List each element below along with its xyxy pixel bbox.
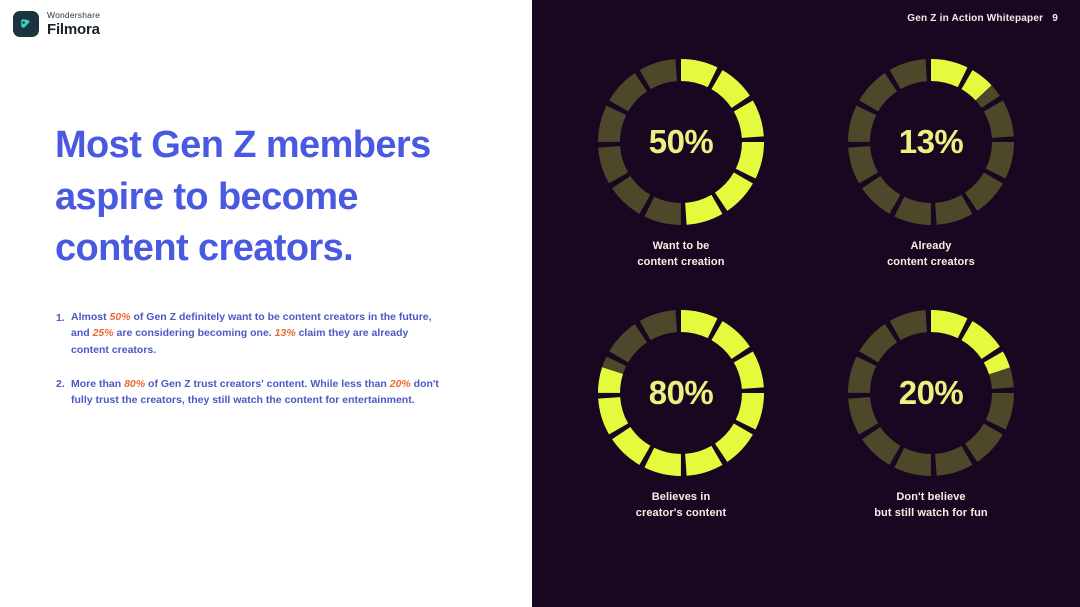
brand-logo: Wondershare Filmora	[13, 11, 100, 37]
brand-name-top: Wondershare	[47, 11, 100, 20]
donut-caption-line2: but still watch for fun	[874, 506, 988, 522]
brand-name-bottom: Filmora	[47, 22, 100, 37]
list-item: 1.Almost 50% of Gen Z definitely want to…	[56, 309, 446, 358]
body-text: More than	[71, 378, 124, 390]
donut-caption-line2: content creation	[637, 255, 724, 271]
donut-value-label: 80%	[597, 309, 765, 477]
donut-caption-line1: Believes in	[636, 490, 727, 506]
donut-caption-line2: content creators	[887, 255, 975, 271]
donut-caption: Believes increator's content	[636, 490, 727, 522]
stat-highlight: 20%	[390, 378, 411, 390]
body-text: are considering becoming one.	[114, 327, 275, 339]
chart-panel: Gen Z in Action Whitepaper 9 50%Want to …	[532, 0, 1080, 607]
donut-ring: 13%	[847, 58, 1015, 226]
slide: Wondershare Filmora Most Gen Z members a…	[0, 0, 1080, 607]
list-item-number: 1.	[56, 309, 71, 358]
stat-highlight: 50%	[110, 311, 131, 323]
donut-caption-line1: Don't believe	[874, 490, 988, 506]
document-title: Gen Z in Action Whitepaper	[907, 13, 1043, 24]
list-item: 2.More than 80% of Gen Z trust creators'…	[56, 376, 446, 409]
donut-caption: Don't believebut still watch for fun	[874, 490, 988, 522]
page-title: Most Gen Z members aspire to become cont…	[55, 120, 495, 275]
donut-caption-line1: Want to be	[637, 239, 724, 255]
list-item-text: More than 80% of Gen Z trust creators' c…	[71, 376, 446, 409]
stat-highlight: 13%	[275, 327, 296, 339]
donut-chart-0: 50%Want to becontent creation	[556, 58, 806, 271]
stat-highlight: 25%	[93, 327, 114, 339]
body-text: of Gen Z trust creators' content. While …	[145, 378, 390, 390]
donut-chart-grid: 50%Want to becontent creation13%Alreadyc…	[532, 58, 1080, 522]
donut-ring: 20%	[847, 309, 1015, 477]
donut-value-label: 50%	[597, 58, 765, 226]
donut-chart-1: 13%Alreadycontent creators	[806, 58, 1056, 271]
donut-ring: 50%	[597, 58, 765, 226]
donut-caption: Want to becontent creation	[637, 239, 724, 271]
donut-value-label: 20%	[847, 309, 1015, 477]
donut-chart-2: 80%Believes increator's content	[556, 309, 806, 522]
document-header: Gen Z in Action Whitepaper 9	[907, 13, 1058, 24]
filmora-play-logo-icon	[13, 11, 39, 37]
donut-value-label: 13%	[847, 58, 1015, 226]
donut-caption-line1: Already	[887, 239, 975, 255]
stat-highlight: 80%	[124, 378, 145, 390]
left-content-panel: Wondershare Filmora Most Gen Z members a…	[0, 0, 532, 607]
donut-ring: 80%	[597, 309, 765, 477]
list-item-text: Almost 50% of Gen Z definitely want to b…	[71, 309, 446, 358]
donut-caption: Alreadycontent creators	[887, 239, 975, 271]
bullet-list: 1.Almost 50% of Gen Z definitely want to…	[56, 309, 446, 426]
donut-chart-3: 20%Don't believebut still watch for fun	[806, 309, 1056, 522]
list-item-number: 2.	[56, 376, 71, 409]
page-number: 9	[1052, 13, 1058, 24]
body-text: Almost	[71, 311, 110, 323]
donut-caption-line2: creator's content	[636, 506, 727, 522]
